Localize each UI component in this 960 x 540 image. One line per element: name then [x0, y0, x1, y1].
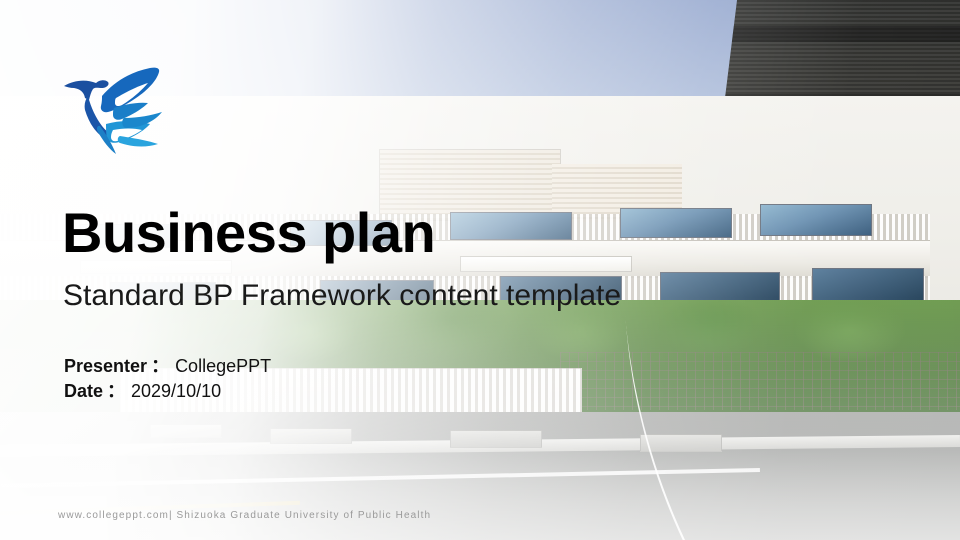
date-separator: ： — [103, 381, 127, 401]
presenter-value: CollegePPT — [171, 356, 271, 376]
page-subtitle: Standard BP Framework content template — [63, 278, 621, 314]
footer-credit: www.collegeppt.com| Shizuoka Graduate Un… — [58, 510, 431, 521]
date-value: 2029/10/10 — [127, 381, 221, 401]
presentation-meta: Presenter：CollegePPT Date：2029/10/10 — [64, 354, 271, 404]
date-label: Date — [64, 381, 103, 401]
crane-bird-logo — [58, 52, 188, 160]
presenter-label: Presenter — [64, 356, 147, 376]
presenter-row: Presenter：CollegePPT — [64, 354, 271, 379]
presentation-title-slide: Business plan Standard BP Framework cont… — [0, 0, 960, 540]
presenter-separator: ： — [147, 356, 171, 376]
page-title: Business plan — [62, 204, 435, 263]
date-row: Date：2029/10/10 — [64, 379, 271, 404]
